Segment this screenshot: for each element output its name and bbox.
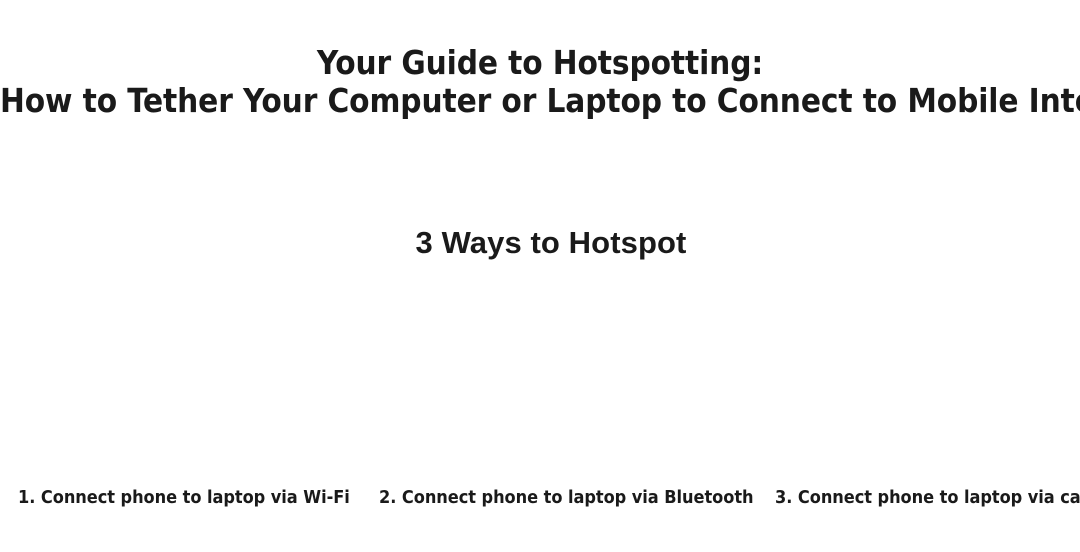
illustration-slot-bluetooth: [360, 282, 720, 472]
step-caption-wifi: 1. Connect phone to laptop via Wi-Fi: [18, 487, 350, 509]
step-caption-cable: 3. Connect phone to laptop via cable: [775, 487, 1080, 509]
section-heading: 3 Ways to Hotspot: [0, 225, 1080, 261]
page-title-line-2: How to Tether Your Computer or Laptop to…: [0, 82, 1080, 120]
step-caption-row: 1. Connect phone to laptop via Wi-Fi 2. …: [0, 487, 1080, 513]
step-caption-bluetooth: 2. Connect phone to laptop via Bluetooth: [379, 487, 754, 509]
illustration-slot-wifi: [0, 282, 360, 472]
page-title-line-1: Your Guide to Hotspotting:: [0, 44, 1080, 82]
illustration-slot-cable: [720, 282, 1080, 472]
section-heading-label: 3 Ways to Hotspot: [416, 225, 687, 261]
illustration-band: [0, 282, 1080, 472]
page-title: Your Guide to Hotspotting: How to Tether…: [0, 44, 1080, 120]
infographic-canvas: Your Guide to Hotspotting: How to Tether…: [0, 0, 1080, 552]
